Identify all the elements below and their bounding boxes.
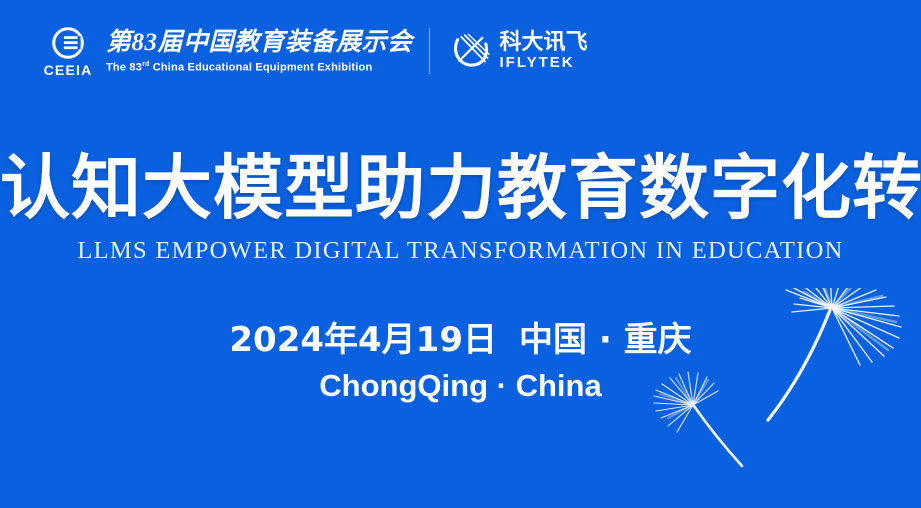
- page-subtitle: LLMS EMPOWER DIGITAL TRANSFORMATION IN E…: [0, 239, 921, 264]
- iflytek-name-en: IFLYTEK: [500, 55, 588, 71]
- event-location-en: ChongQing · China: [0, 369, 921, 403]
- iflytek-text-block: 科大讯飞 IFLYTEK: [500, 31, 588, 71]
- iflytek-swoosh-icon: [448, 29, 492, 73]
- event-date-cn: 2024年4月19日: [229, 320, 497, 360]
- event-date-location-cn: 2024年4月19日中国 · 重庆: [0, 322, 921, 359]
- exhibition-title-cn: 第83届中国教育装备展示会: [106, 29, 413, 57]
- conference-poster: CEEIA 第83届中国教育装备展示会 The 83rd China Educa…: [0, 0, 921, 508]
- ceeia-logo: CEEIA: [42, 26, 94, 77]
- logo-divider: [429, 28, 430, 74]
- page-title: 认知大模型助力教育数字化转型: [0, 155, 921, 225]
- iflytek-name-cn: 科大讯飞: [500, 31, 588, 54]
- headline-block: 认知大模型助力教育数字化转型 LLMS EMPOWER DIGITAL TRAN…: [0, 155, 921, 264]
- exhibition-title-en-suffix: China Educational Equipment Exhibition: [149, 61, 372, 73]
- event-location-cn: 中国 · 重庆: [519, 320, 692, 360]
- exhibition-title-en: The 83rd China Educational Equipment Exh…: [106, 61, 413, 74]
- ceeia-text-block: 第83届中国教育装备展示会 The 83rd China Educational…: [106, 29, 413, 74]
- exhibition-title-en-prefix: The 83: [106, 61, 142, 73]
- ceeia-circle-e-icon: [51, 26, 85, 60]
- ceeia-wordmark: CEEIA: [44, 63, 93, 77]
- header-logo-bar: CEEIA 第83届中国教育装备展示会 The 83rd China Educa…: [42, 22, 588, 80]
- event-info-block: 2024年4月19日中国 · 重庆 ChongQing · China: [0, 322, 921, 403]
- iflytek-logo: 科大讯飞 IFLYTEK: [448, 29, 588, 73]
